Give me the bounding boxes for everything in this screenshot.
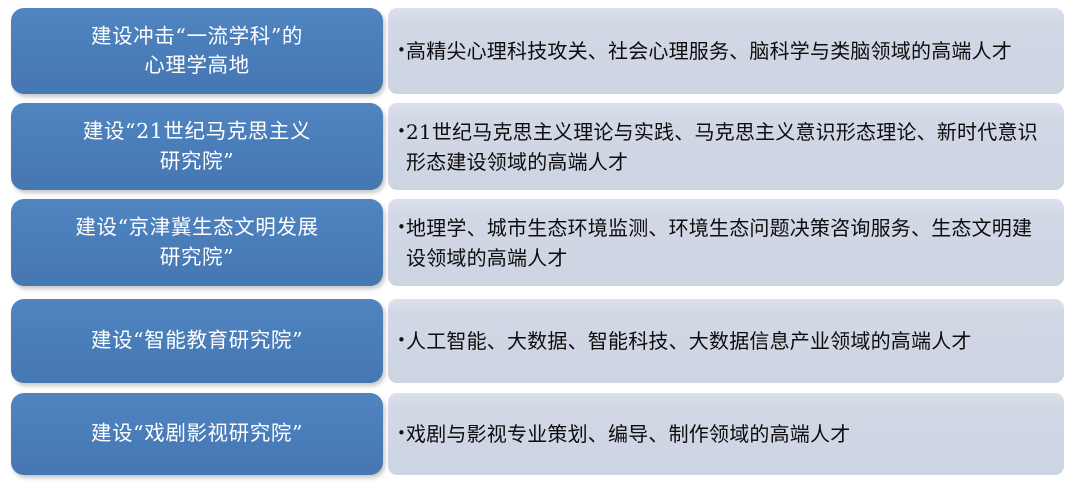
row-label-box-1[interactable]: 建设冲击“一流学科”的 心理学高地 <box>11 8 383 94</box>
row-label-box-2[interactable]: 建设“21世纪马克思主义 研究院” <box>11 103 383 190</box>
row-detail-box-2[interactable]: • 21世纪马克思主义理论与实践、马克思主义意识形态理论、新时代意识形态建设领域… <box>388 103 1064 190</box>
bullet-icon: • <box>397 120 406 143</box>
row-detail-text-4: 人工智能、大数据、智能科技、大数据信息产业领域的高端人才 <box>406 326 1050 356</box>
bullet-line-3: • 地理学、城市生态环境监测、环境生态问题决策咨询服务、生态文明建设领域的高端人… <box>388 213 1064 273</box>
diagram-row: 建设冲击“一流学科”的 心理学高地 • 高精尖心理科技攻关、社会心理服务、脑科学… <box>0 8 1074 94</box>
row-detail-text-5: 戏剧与影视专业策划、编导、制作领域的高端人才 <box>406 419 1050 449</box>
row-detail-text-3: 地理学、城市生态环境监测、环境生态问题决策咨询服务、生态文明建设领域的高端人才 <box>406 213 1050 273</box>
row-detail-box-3[interactable]: • 地理学、城市生态环境监测、环境生态问题决策咨询服务、生态文明建设领域的高端人… <box>388 199 1064 286</box>
bullet-icon: • <box>397 216 406 239</box>
bullet-line-2: • 21世纪马克思主义理论与实践、马克思主义意识形态理论、新时代意识形态建设领域… <box>388 117 1064 177</box>
bullet-line-4: • 人工智能、大数据、智能科技、大数据信息产业领域的高端人才 <box>388 326 1064 356</box>
row-detail-box-5[interactable]: • 戏剧与影视专业策划、编导、制作领域的高端人才 <box>388 393 1064 475</box>
row-label-box-3[interactable]: 建设“京津冀生态文明发展 研究院” <box>11 199 383 286</box>
row-label-text-2: 建设“21世纪马克思主义 研究院” <box>73 117 321 175</box>
row-label-box-4[interactable]: 建设“智能教育研究院” <box>11 299 383 383</box>
diagram-container: 建设冲击“一流学科”的 心理学高地 • 高精尖心理科技攻关、社会心理服务、脑科学… <box>0 0 1074 488</box>
row-label-box-5[interactable]: 建设“戏剧影视研究院” <box>11 393 383 475</box>
row-detail-text-2: 21世纪马克思主义理论与实践、马克思主义意识形态理论、新时代意识形态建设领域的高… <box>406 117 1050 177</box>
row-detail-text-1: 高精尖心理科技攻关、社会心理服务、脑科学与类脑领域的高端人才 <box>406 36 1050 66</box>
diagram-row: 建设“京津冀生态文明发展 研究院” • 地理学、城市生态环境监测、环境生态问题决… <box>0 199 1074 286</box>
row-label-text-5: 建设“戏剧影视研究院” <box>81 419 313 448</box>
bullet-icon: • <box>397 39 406 62</box>
row-label-text-4: 建设“智能教育研究院” <box>81 326 313 355</box>
row-label-text-3: 建设“京津冀生态文明发展 研究院” <box>65 213 328 271</box>
row-label-text-1: 建设冲击“一流学科”的 心理学高地 <box>81 22 313 80</box>
row-detail-box-1[interactable]: • 高精尖心理科技攻关、社会心理服务、脑科学与类脑领域的高端人才 <box>388 8 1064 94</box>
bullet-line-5: • 戏剧与影视专业策划、编导、制作领域的高端人才 <box>388 419 1064 449</box>
bullet-line-1: • 高精尖心理科技攻关、社会心理服务、脑科学与类脑领域的高端人才 <box>388 36 1064 66</box>
bullet-icon: • <box>397 329 406 352</box>
diagram-row: 建设“戏剧影视研究院” • 戏剧与影视专业策划、编导、制作领域的高端人才 <box>0 393 1074 475</box>
diagram-row: 建设“21世纪马克思主义 研究院” • 21世纪马克思主义理论与实践、马克思主义… <box>0 103 1074 190</box>
bullet-icon: • <box>397 422 406 445</box>
diagram-row: 建设“智能教育研究院” • 人工智能、大数据、智能科技、大数据信息产业领域的高端… <box>0 299 1074 383</box>
row-detail-box-4[interactable]: • 人工智能、大数据、智能科技、大数据信息产业领域的高端人才 <box>388 299 1064 383</box>
